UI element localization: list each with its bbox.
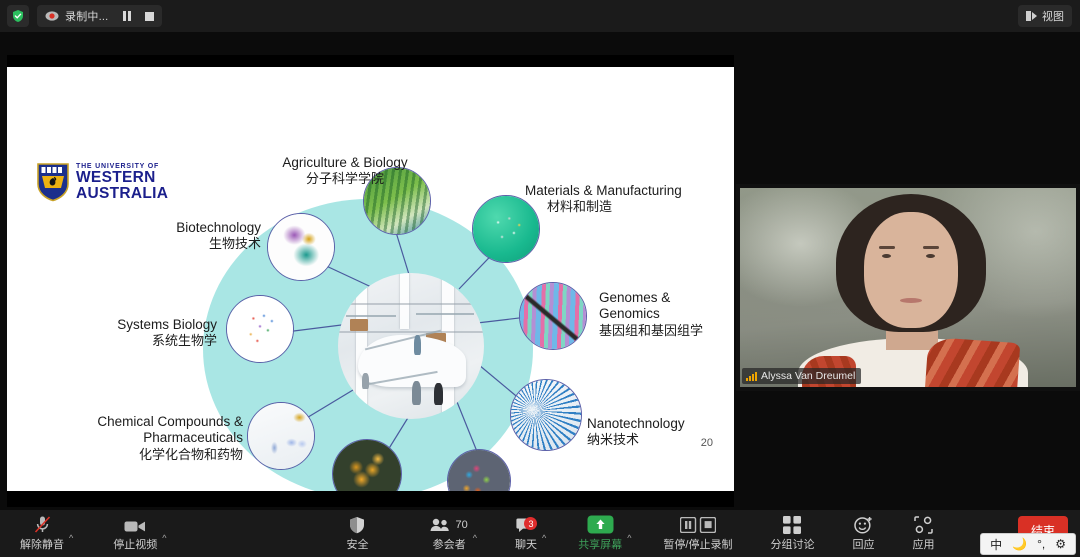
toolbar-item-video[interactable]: 停止视频 bbox=[107, 510, 163, 557]
shield-check-icon[interactable] bbox=[7, 5, 29, 27]
toolbar-label-breakout: 分组讨论 bbox=[770, 536, 814, 552]
participant-name-badge: Alyssa Van Dreumel bbox=[742, 368, 861, 384]
label-en-1: Chemical Compounds & bbox=[53, 414, 243, 430]
pause-icon bbox=[123, 11, 131, 21]
shield-icon bbox=[349, 515, 365, 534]
toolbar-item-participants[interactable]: 70 参会者 bbox=[424, 510, 473, 557]
label-cn: 生物技术 bbox=[109, 236, 261, 252]
self-video-tile[interactable]: Alyssa Van Dreumel bbox=[736, 184, 1080, 391]
video-feed bbox=[740, 188, 1076, 387]
meeting-stage: THE UNIVERSITY OF WESTERN AUSTRALIA bbox=[0, 32, 1080, 510]
toolbar-label-reactions: 回应 bbox=[852, 536, 874, 552]
label-systems-biology: Systems Biology 系统生物学 bbox=[63, 317, 217, 349]
breakout-rooms-icon bbox=[783, 515, 801, 534]
participants-count: 70 bbox=[455, 519, 467, 531]
pause-recording-button[interactable] bbox=[116, 5, 138, 27]
node-nanotechnology bbox=[510, 379, 582, 451]
label-en-1: Genomes & bbox=[599, 290, 703, 306]
layout-view-icon bbox=[1026, 11, 1037, 21]
recording-label: 录制中... bbox=[65, 8, 108, 24]
chat-bubble-icon: 3 bbox=[516, 515, 535, 534]
toolbar-label-chat: 聊天 bbox=[515, 536, 537, 552]
node-synthetic-cells bbox=[332, 439, 402, 491]
toolbar-label-record: 暂停/停止录制 bbox=[663, 536, 732, 552]
toolbar-item-breakout[interactable]: 分组讨论 bbox=[764, 510, 820, 557]
label-en: Nanotechnology bbox=[587, 416, 685, 432]
label-en-2: Pharmaceuticals bbox=[53, 430, 243, 446]
node-biotechnology bbox=[267, 213, 335, 281]
toolbar-label-security: 安全 bbox=[346, 536, 368, 552]
moon-icon[interactable]: 🌙 bbox=[1012, 537, 1027, 551]
shared-screen-frame[interactable]: THE UNIVERSITY OF WESTERN AUSTRALIA bbox=[7, 55, 734, 507]
label-en: Biotechnology bbox=[109, 220, 261, 236]
camera-icon bbox=[124, 515, 146, 534]
label-chemical-compounds: Chemical Compounds & Pharmaceuticals 化学化… bbox=[53, 414, 243, 463]
label-cn: 系统生物学 bbox=[63, 333, 217, 349]
record-dot-icon bbox=[43, 7, 61, 25]
label-cn: 基因组和基因组学 bbox=[599, 323, 703, 339]
label-cn: 材料和制造 bbox=[547, 199, 682, 215]
toolbar-item-share-screen[interactable]: 共享屏幕 bbox=[572, 510, 628, 557]
meeting-toolbar: 解除静音 ^ 停止视频 ^ 安全 70 参会者 ^ bbox=[0, 510, 1080, 557]
participants-icon: 70 bbox=[430, 515, 467, 534]
toolbar-item-record[interactable]: 暂停/停止录制 bbox=[657, 510, 738, 557]
label-cn: 化学化合物和药物 bbox=[53, 447, 243, 463]
stop-icon bbox=[145, 12, 154, 21]
node-chemical-compounds bbox=[247, 402, 315, 470]
node-genomes-genomics bbox=[519, 282, 587, 350]
label-en: Agriculture & Biology bbox=[245, 155, 445, 171]
signal-bars-icon bbox=[746, 372, 757, 381]
label-genomes-genomics: Genomes & Genomics 基因组和基因组学 bbox=[599, 290, 703, 339]
toolbar-label-share-screen: 共享屏幕 bbox=[578, 536, 622, 552]
ime-language-bar[interactable]: 中 🌙 °, ⚙ bbox=[980, 533, 1076, 555]
microphone-muted-icon bbox=[34, 515, 51, 534]
node-systems-biology bbox=[226, 295, 294, 363]
node-nutrition bbox=[447, 449, 511, 491]
view-button[interactable]: 视图 bbox=[1018, 5, 1072, 27]
toolbar-label-mute: 解除静音 bbox=[20, 536, 64, 552]
toolbar-label-apps: 应用 bbox=[912, 536, 934, 552]
slide-page-number: 20 bbox=[701, 437, 713, 449]
chat-unread-badge: 3 bbox=[524, 517, 537, 530]
toolbar-item-mute[interactable]: 解除静音 bbox=[14, 510, 70, 557]
label-en: Systems Biology bbox=[63, 317, 217, 333]
recording-topbar: 录制中... 视图 bbox=[0, 0, 1080, 32]
reactions-smiley-icon bbox=[854, 515, 873, 534]
label-materials-manufacturing: Materials & Manufacturing 材料和制造 bbox=[525, 183, 682, 215]
ime-language[interactable]: 中 bbox=[990, 536, 1002, 553]
gear-icon[interactable]: ⚙ bbox=[1055, 537, 1066, 551]
center-hub-image bbox=[338, 273, 484, 419]
toolbar-label-participants: 参会者 bbox=[433, 536, 466, 552]
recording-indicator-group: 录制中... bbox=[37, 5, 162, 27]
view-label: 视图 bbox=[1042, 8, 1064, 24]
toolbar-item-security[interactable]: 安全 bbox=[340, 510, 374, 557]
presentation-slide: THE UNIVERSITY OF WESTERN AUSTRALIA bbox=[7, 67, 734, 491]
label-en: Nutrition bbox=[510, 490, 560, 491]
apps-icon bbox=[914, 515, 933, 534]
toolbar-item-apps[interactable]: 应用 bbox=[906, 510, 940, 557]
label-en-2: Genomics bbox=[599, 306, 703, 322]
participant-name: Alyssa Van Dreumel bbox=[761, 370, 855, 382]
label-nutrition: Nutrition 营养 bbox=[510, 490, 560, 491]
label-agriculture-biology: Agriculture & Biology 分子科学学院 bbox=[245, 155, 445, 187]
stop-recording-button[interactable] bbox=[138, 5, 160, 27]
toolbar-item-chat[interactable]: 3 聊天 bbox=[509, 510, 543, 557]
label-en: Materials & Manufacturing bbox=[525, 183, 682, 199]
label-cn: 纳米技术 bbox=[587, 432, 685, 448]
share-screen-icon bbox=[587, 515, 614, 534]
toolbar-item-reactions[interactable]: 回应 bbox=[846, 510, 880, 557]
toolbar-label-video: 停止视频 bbox=[113, 536, 157, 552]
pause-stop-record-icon bbox=[680, 515, 716, 534]
label-nanotechnology: Nanotechnology 纳米技术 bbox=[587, 416, 685, 448]
punctuation-icon[interactable]: °, bbox=[1037, 537, 1045, 551]
zoom-meeting-window: 录制中... 视图 bbox=[0, 0, 1080, 557]
label-cn: 分子科学学院 bbox=[245, 171, 445, 187]
label-biotechnology: Biotechnology 生物技术 bbox=[109, 220, 261, 252]
